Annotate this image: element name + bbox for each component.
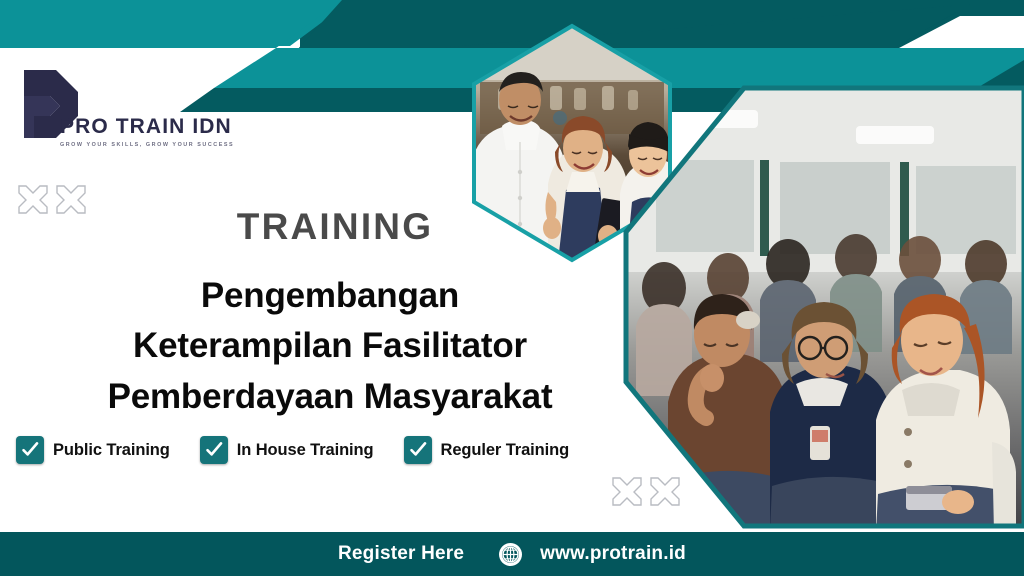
globe-icon <box>498 542 523 567</box>
training-type-label: Reguler Training <box>441 441 570 460</box>
headline-line-3: Pemberdayaan Masyarakat <box>0 372 660 422</box>
training-type-public[interactable]: Public Training <box>16 436 170 464</box>
training-flyer-poster: PRO TRAIN IDN GROW YOUR SKILLS, GROW YOU… <box>0 0 1024 576</box>
audience-photo-content <box>620 82 1024 532</box>
training-type-list: Public Training In House Training Regule… <box>16 436 569 464</box>
seminar-audience-photo <box>620 82 1024 532</box>
checkbox-checked-icon[interactable] <box>404 436 432 464</box>
training-type-in-house[interactable]: In House Training <box>200 436 374 464</box>
logo-wordmark-group: PRO TRAIN IDN GROW YOUR SKILLS, GROW YOU… <box>60 116 246 148</box>
footer-bar: Register Here www.protrain.id <box>0 532 1024 576</box>
training-type-reguler[interactable]: Reguler Training <box>404 436 570 464</box>
page-title: Pengembangan Keterampilan Fasilitator Pe… <box>0 271 660 422</box>
logo-name: PRO TRAIN IDN <box>60 116 246 137</box>
website-group[interactable]: www.protrain.id <box>498 542 686 567</box>
checkbox-checked-icon[interactable] <box>200 436 228 464</box>
banner-stripe-bright-left <box>0 0 352 46</box>
logo-tagline: GROW YOUR SKILLS, GROW YOUR SUCCESS <box>60 142 246 148</box>
checkbox-checked-icon[interactable] <box>16 436 44 464</box>
brand-logo[interactable]: PRO TRAIN IDN GROW YOUR SKILLS, GROW YOU… <box>16 60 246 160</box>
register-here-label[interactable]: Register Here <box>338 543 464 565</box>
headline-line-2: Keterampilan Fasilitator <box>0 321 660 371</box>
training-type-label: In House Training <box>237 441 374 460</box>
website-url[interactable]: www.protrain.id <box>540 543 686 565</box>
headline-line-1: Pengembangan <box>0 271 660 321</box>
training-type-label: Public Training <box>53 441 170 460</box>
